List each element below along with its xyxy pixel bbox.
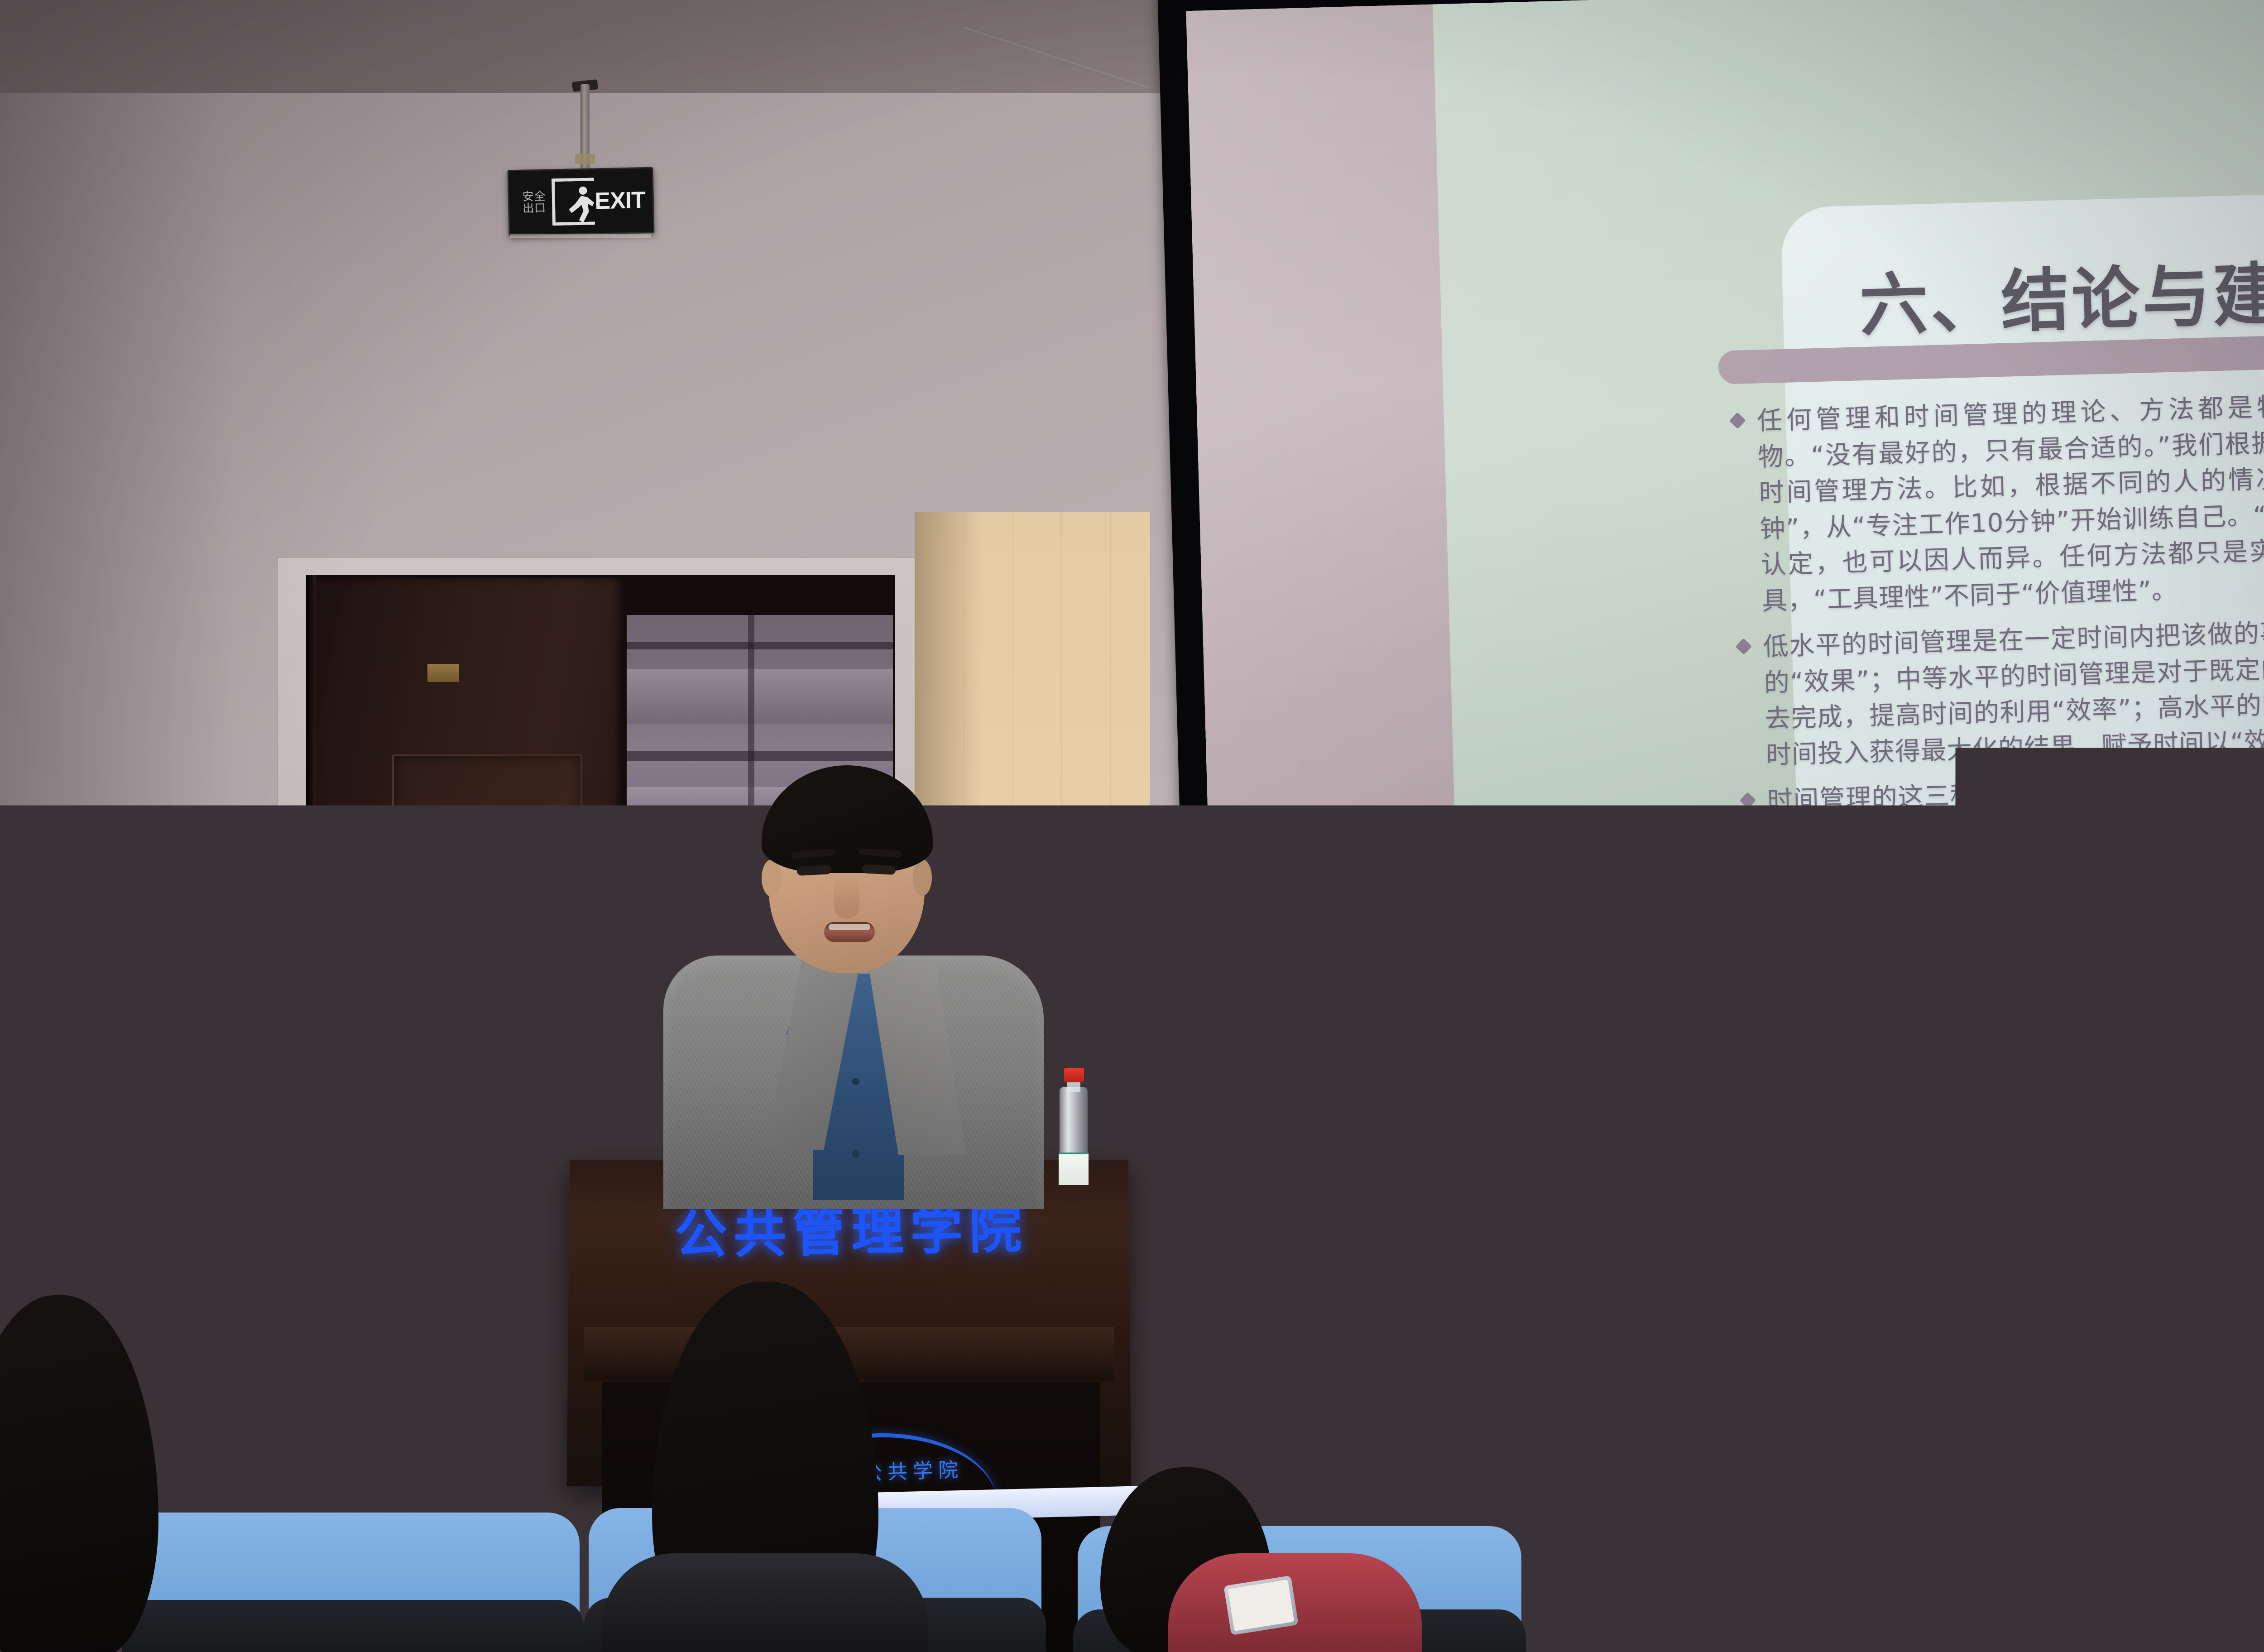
audience-member-shoulders <box>1938 1594 2246 1652</box>
presenter-teeth <box>829 924 870 930</box>
pipe-collar <box>575 154 595 164</box>
slide-bullet-item: 低水平的时间管理是在一定时间内把该做的事情做完，达到一定的“效果”；中等水平的时… <box>1737 610 2264 774</box>
slide-bullet-text: 任何管理和时间管理的理论、方法都是特定时代背景的产物。“没有最好的，只有最合适的… <box>1756 384 2264 619</box>
running-man-exit-icon <box>552 178 595 226</box>
wainscot-seam <box>1141 1304 2264 1306</box>
wainscot-top-cap <box>1141 860 2264 867</box>
lecture-hall-scene: 安全出口 EXIT <box>0 0 2264 1652</box>
wood-grain-knot <box>1395 987 1426 1087</box>
diamond-bullet-icon <box>1729 412 1746 429</box>
door-plaque <box>427 664 459 682</box>
wood-grain-knot <box>2155 960 2182 1051</box>
slide-bullet-item: 任何管理和时间管理的理论、方法都是特定时代背景的产物。“没有最好的，只有最合适的… <box>1731 384 2264 620</box>
slide-bullet-list: 任何管理和时间管理的理论、方法都是特定时代背景的产物。“没有最好的，只有最合适的… <box>1731 384 2264 850</box>
window-rail <box>627 751 893 761</box>
projection-screen: 六、结论与建议（2） 任何管理和时间管理的理论、方法都是特定时代背景的产物。“没… <box>1157 0 2264 880</box>
presenter-hair <box>762 765 933 873</box>
audience-phone[interactable] <box>1223 1575 1298 1635</box>
stair-flight <box>627 669 893 724</box>
presenter-ear-left <box>762 860 782 897</box>
exit-sign: 安全出口 EXIT <box>508 167 655 236</box>
presenter <box>648 761 1055 1191</box>
diamond-bullet-icon <box>1735 638 1752 655</box>
diamond-bullet-icon <box>1740 792 1756 809</box>
phone-screen <box>1228 1580 1294 1631</box>
presenter-eye-left <box>797 865 832 876</box>
exit-sign-english-label: EXIT <box>595 187 646 215</box>
wood-grain-knot <box>1838 1159 1879 1295</box>
door-peephole-icon <box>510 1004 517 1011</box>
chair-frame <box>122 1600 584 1652</box>
screen-surface: 六、结论与建议（2） 任何管理和时间管理的理论、方法都是特定时代背景的产物。“没… <box>1186 0 2264 850</box>
presenter-eye-right <box>862 864 896 875</box>
presenter-nose <box>834 875 859 918</box>
audience-chair[interactable] <box>127 1513 580 1652</box>
presenter-ear-right <box>913 860 932 896</box>
window-rail <box>627 642 893 649</box>
audience-member-shoulders <box>602 1553 928 1652</box>
exit-sign-base <box>510 234 651 238</box>
exit-sign-chinese-label: 安全出口 <box>516 190 552 215</box>
running-man-glyph <box>561 185 596 224</box>
shirt-button <box>852 1078 859 1085</box>
shirt-button <box>852 1150 859 1157</box>
slide-bullet-text: 低水平的时间管理是在一定时间内把该做的事情做完，达到一定的“效果”；中等水平的时… <box>1763 610 2264 773</box>
slide-title: 六、结论与建议（2） <box>1858 232 2264 349</box>
audience-member-shoulders <box>1336 1576 1743 1652</box>
presentation-slide: 六、结论与建议（2） 任何管理和时间管理的理论、方法都是特定时代背景的产物。“没… <box>1186 0 2264 850</box>
slide-mauve-band <box>1186 5 1455 850</box>
bottle-red-cap <box>1064 1068 1084 1082</box>
bottle-label <box>1059 1153 1089 1185</box>
